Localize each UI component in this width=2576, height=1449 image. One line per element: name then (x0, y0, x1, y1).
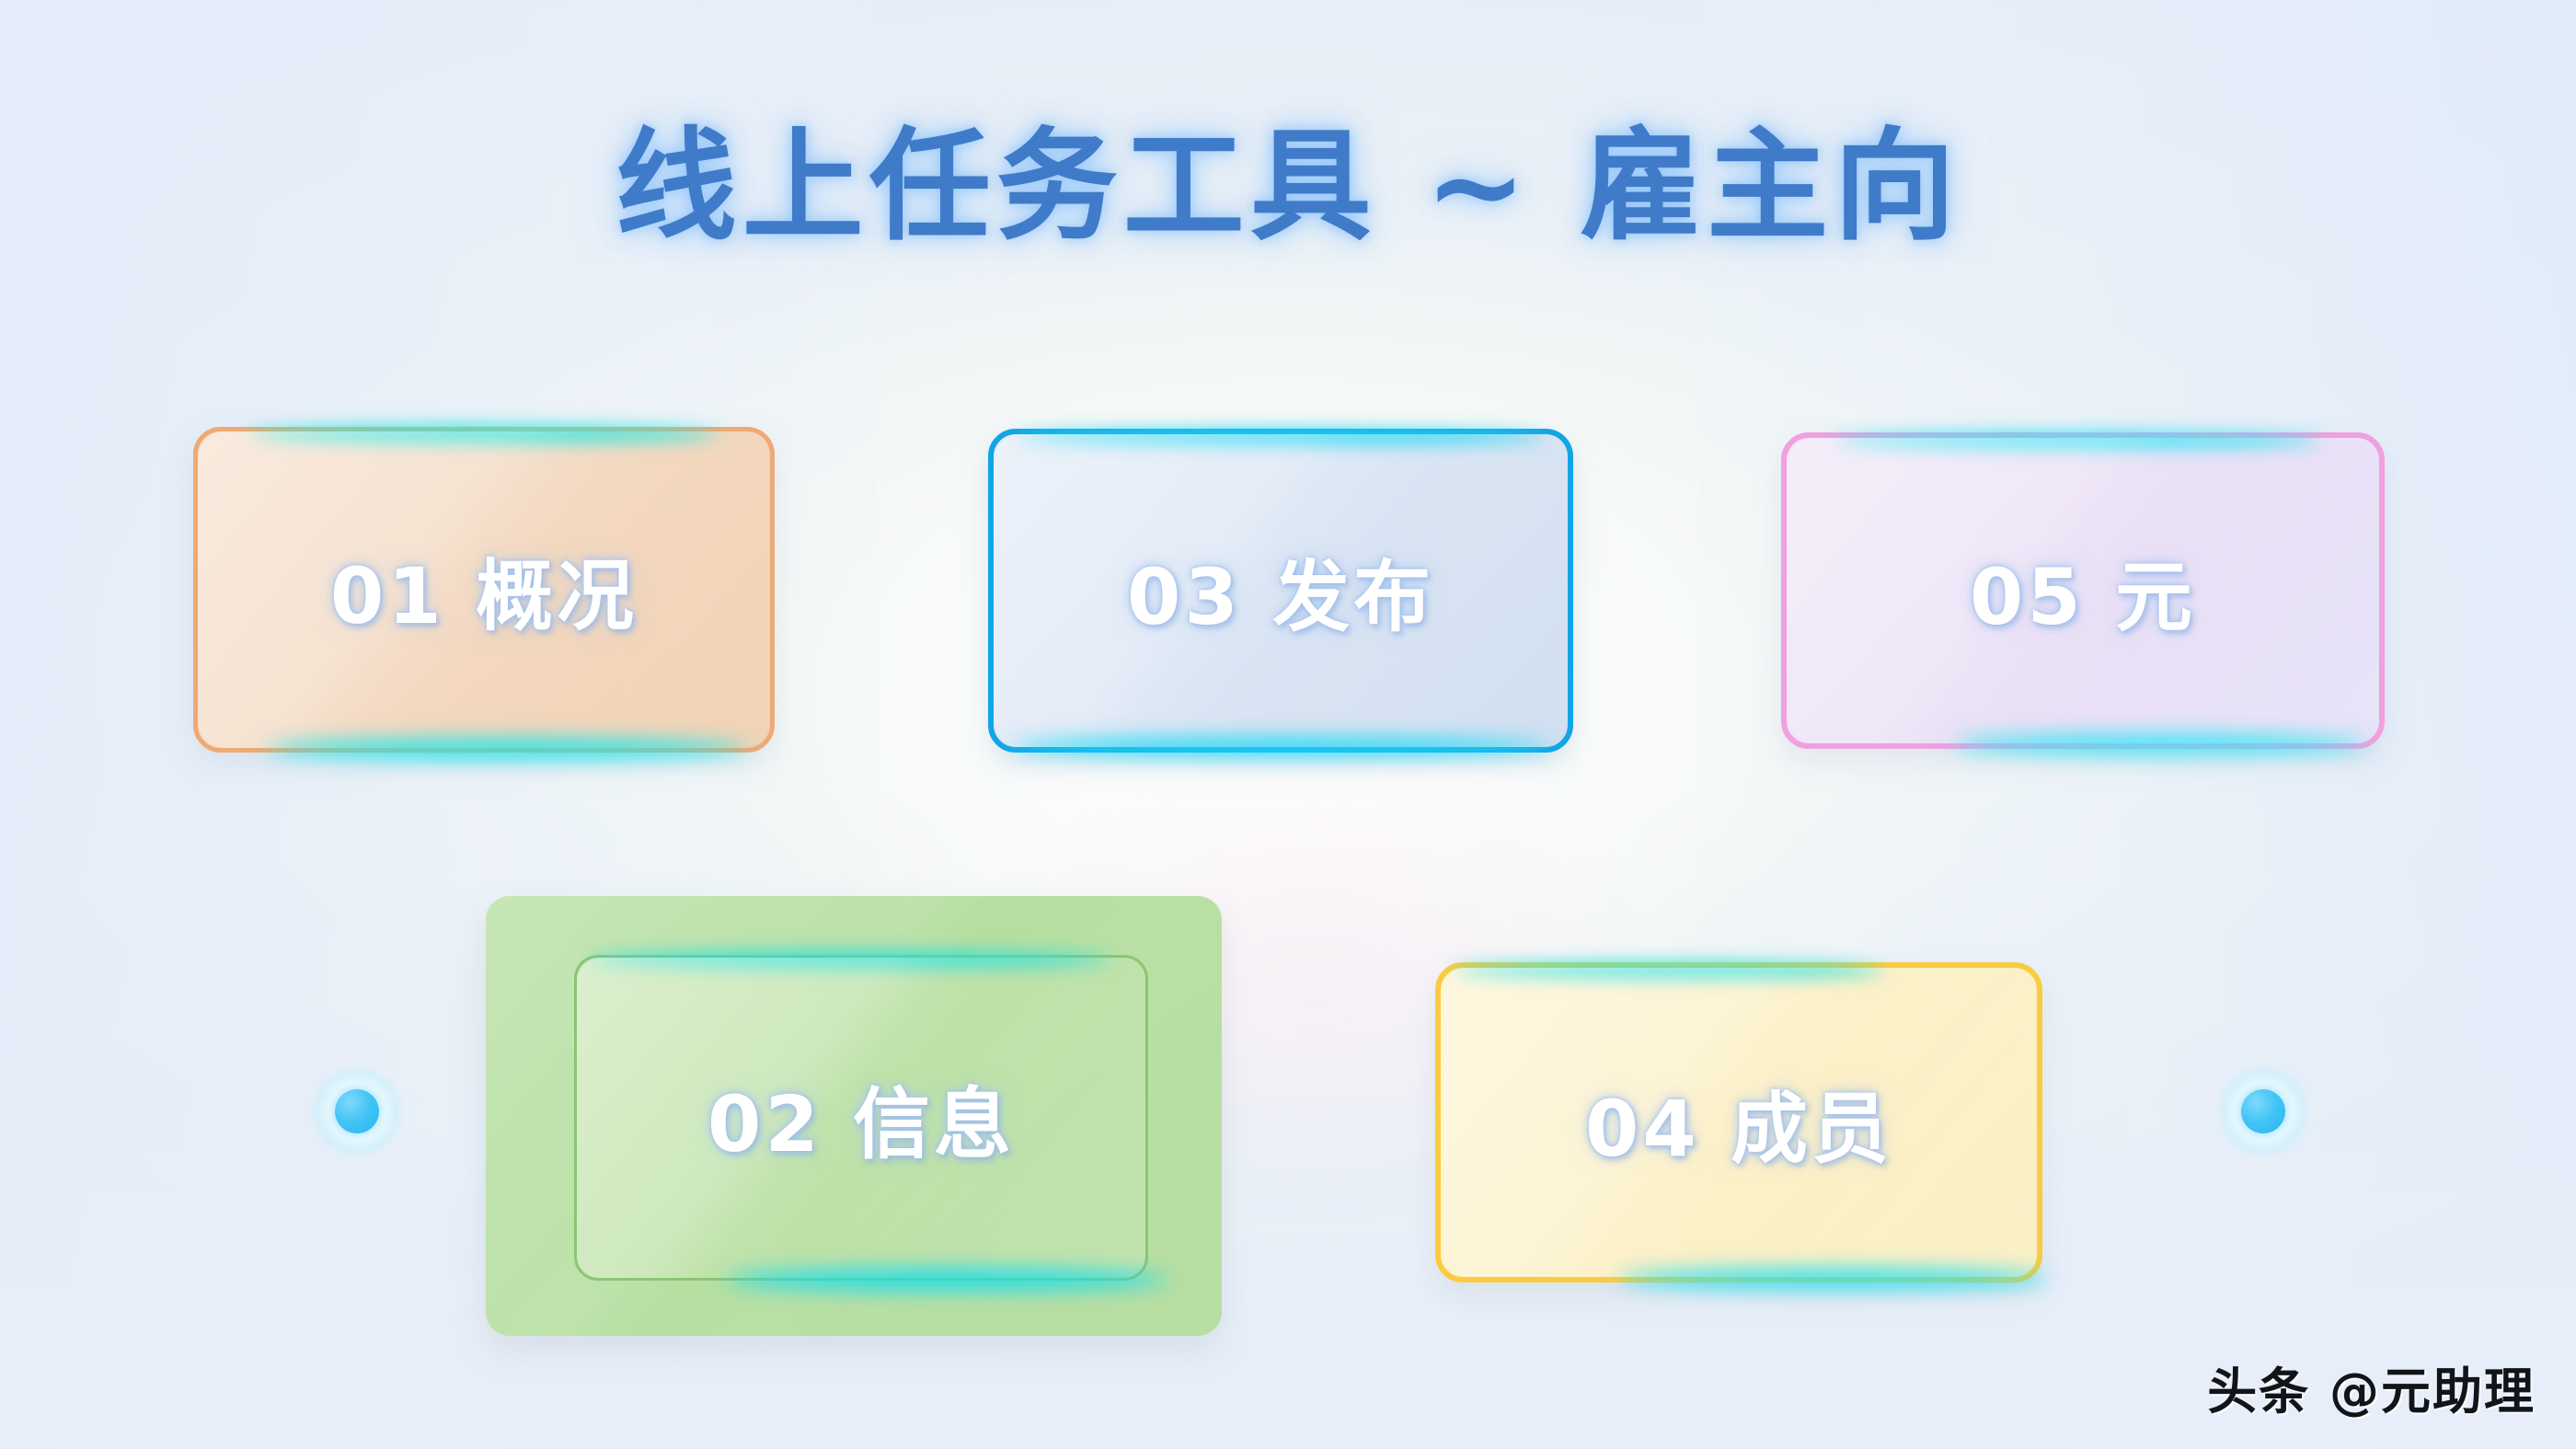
card-03-label: 03 发布 (1127, 535, 1434, 647)
card-05-currency[interactable]: 05 元 (1781, 432, 2385, 749)
card-04-label: 04 成员 (1585, 1067, 1892, 1179)
card-04-members[interactable]: 04 成员 (1435, 962, 2042, 1282)
bullet-dot-icon-left (328, 1082, 386, 1141)
watermark: 头条 @元助理 (2207, 1351, 2536, 1423)
card-02-label: 02 信息 (707, 1063, 1015, 1174)
card-03-publish[interactable]: 03 发布 (988, 429, 1573, 753)
card-05-label: 05 元 (1970, 535, 2196, 647)
card-01-label: 01 概况 (330, 535, 638, 646)
card-05-top-glow (1834, 432, 2320, 449)
bullet-dot-icon-right (2234, 1082, 2293, 1141)
card-03-top-glow (1017, 430, 1545, 444)
bullet-dot-core-left (335, 1089, 379, 1133)
card-04-top-glow (1453, 962, 1882, 979)
card-01-top-glow (249, 426, 719, 443)
bullet-dot-core-right (2241, 1089, 2285, 1133)
card-01-overview[interactable]: 01 概况 (193, 427, 775, 753)
card-02-information[interactable]: 02 信息 (574, 955, 1148, 1281)
